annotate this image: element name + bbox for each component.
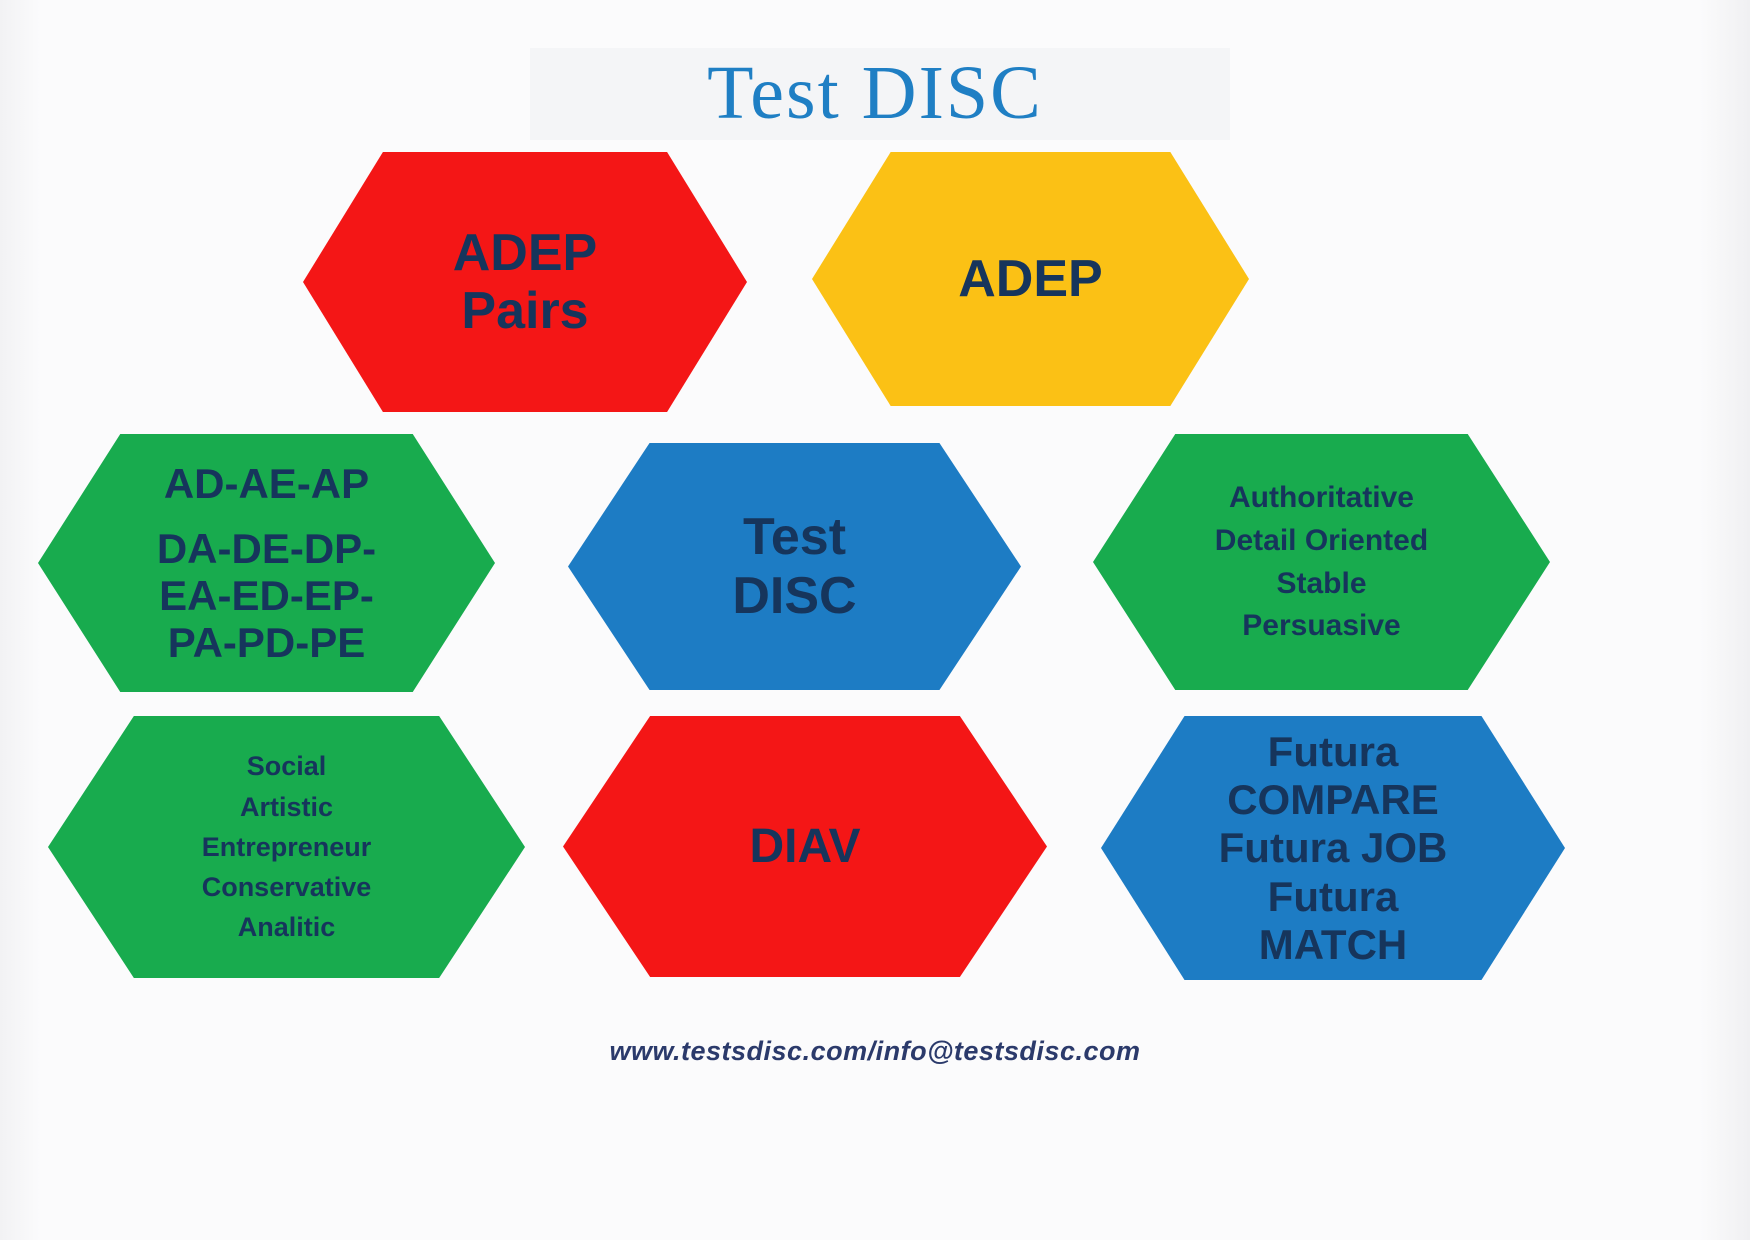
hex-line: DIAV [573, 820, 1037, 874]
hex-line: AD-AE-AP [48, 460, 485, 507]
hex-line: Futura JOB [1111, 824, 1555, 871]
hex-node-adep-pairs[interactable]: ADEP Pairs [303, 152, 747, 412]
hex-line: Detail Oriented [1103, 524, 1540, 558]
hex-line: PA-PD-PE [48, 619, 485, 666]
hex-node-diav-label: DIAV [573, 820, 1037, 874]
hex-line: MATCH [1111, 921, 1555, 968]
hex-line: ADEP [313, 224, 737, 282]
hex-node-futura-label: Futura COMPARE Futura JOB Futura MATCH [1111, 727, 1555, 968]
footer-contact[interactable]: www.testsdisc.com/info@testsdisc.com [0, 1036, 1750, 1067]
hex-node-adep-pairs-label: ADEP Pairs [313, 224, 737, 340]
hex-node-pairs-codes-label: AD-AE-AP DA-DE-DP- EA-ED-EP- PA-PD-PE [48, 460, 485, 666]
hex-line: Authoritative [1103, 481, 1540, 515]
hex-line: COMPARE [1111, 776, 1555, 823]
hex-node-interests[interactable]: Social Artistic Entrepreneur Conservativ… [48, 716, 525, 978]
hex-line: Analitic [58, 912, 515, 942]
hex-node-test-disc[interactable]: Test DISC [568, 443, 1021, 690]
hex-node-test-disc-label: Test DISC [578, 508, 1011, 624]
hex-line: Futura [1111, 728, 1555, 775]
hex-node-traits-label: Authoritative Detail Oriented Stable Per… [1103, 472, 1540, 651]
hex-line: Futura [1111, 873, 1555, 920]
hex-line: Social [58, 751, 515, 781]
page-title: Test DISC [0, 50, 1750, 137]
hex-line: Entrepreneur [58, 832, 515, 862]
hex-line: Stable [1103, 567, 1540, 601]
hex-line: Artistic [58, 792, 515, 822]
hex-node-interests-label: Social Artistic Entrepreneur Conservativ… [58, 741, 515, 952]
hex-node-traits[interactable]: Authoritative Detail Oriented Stable Per… [1093, 434, 1550, 690]
hex-node-adep-label: ADEP [822, 250, 1239, 308]
hex-line: Pairs [313, 282, 737, 340]
hex-line: DA-DE-DP- [48, 525, 485, 572]
hex-line: Test [578, 508, 1011, 566]
hex-line: DISC [578, 567, 1011, 625]
hex-node-pairs-codes[interactable]: AD-AE-AP DA-DE-DP- EA-ED-EP- PA-PD-PE [38, 434, 495, 692]
hex-line: EA-ED-EP- [48, 572, 485, 619]
hex-node-adep[interactable]: ADEP [812, 152, 1249, 406]
hex-line: Conservative [58, 872, 515, 902]
hex-node-diav[interactable]: DIAV [563, 716, 1047, 977]
hex-node-futura[interactable]: Futura COMPARE Futura JOB Futura MATCH [1101, 716, 1565, 980]
hex-line: Persuasive [1103, 609, 1540, 643]
hex-line: ADEP [822, 250, 1239, 308]
